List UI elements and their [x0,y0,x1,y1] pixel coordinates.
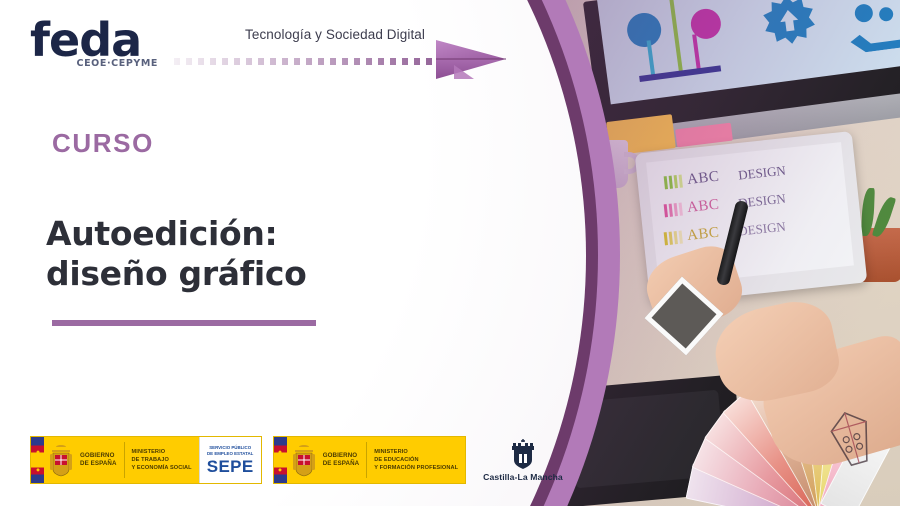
spanish-flag-bar-icon [274,437,287,483]
logo-gobierno-trabajo: GOBIERNO DE ESPAÑA MINISTERIO DE TRABAJO… [30,436,262,484]
feda-logo[interactable]: feda CEOE·CEPYME [30,18,160,69]
gobierno-line-1: GOBIERNO [80,452,117,460]
gobierno-line-1: GOBIERNO [323,452,360,460]
logo-castilla-la-mancha: Castilla-La Mancha [477,438,563,482]
page-title: Autoedición: diseño gráfico [46,214,466,295]
title-underline-rule [52,320,316,326]
dashed-trail-icon [174,58,454,65]
bar-marks-green [664,175,683,190]
spain-coat-of-arms-icon [287,437,321,483]
feda-logo-wordmark: feda [30,18,160,62]
sepe-acronym: SEPE [207,458,254,475]
bar-marks-yellow [664,231,683,246]
sepe-full-name: SERVICIO PÚBLICO DE EMPLEO ESTATAL [207,445,253,456]
sepe-logo: SERVICIO PÚBLICO DE EMPLEO ESTATAL SEPE [199,437,261,483]
spain-coat-of-arms-icon [44,437,78,483]
tagline-text: Tecnología y Sociedad Digital [245,27,425,42]
tablet-abc-text: ABC [686,225,720,245]
eyebrow-label: CURSO [52,128,154,159]
ministry-label-trabajo: MINISTERIO DE TRABAJO Y ECONOMÍA SOCIAL [125,437,199,483]
spanish-flag-bar-icon [31,437,44,483]
gear-arrow-icon [758,0,821,53]
footer-logos: GOBIERNO DE ESPAÑA MINISTERIO DE TRABAJO… [30,436,563,484]
paper-plane-icon [432,34,510,84]
tablet-abc-text: ABC [686,169,720,189]
course-promo-slide: ABC DESIGN ABC DESIGN ABC DESIGN [0,0,900,506]
tablet-abc-text: ABC [686,197,720,217]
gobierno-label: GOBIERNO DE ESPAÑA [78,437,124,483]
castle-shield-icon [508,438,538,470]
gobierno-label: GOBIERNO DE ESPAÑA [321,437,367,483]
gobierno-line-2: DE ESPAÑA [323,460,360,468]
bar-marks-pink [664,203,683,218]
ministry-label-educacion: MINISTERIO DE EDUCACIÓN Y FORMACIÓN PROF… [367,437,465,483]
logo-gobierno-educacion: GOBIERNO DE ESPAÑA MINISTERIO DE EDUCACI… [273,436,466,484]
hand-plant-icon [841,0,900,54]
tagline-banner: Tecnología y Sociedad Digital [160,28,505,80]
castilla-la-mancha-label: Castilla-La Mancha [483,472,563,482]
gobierno-line-2: DE ESPAÑA [80,460,117,468]
